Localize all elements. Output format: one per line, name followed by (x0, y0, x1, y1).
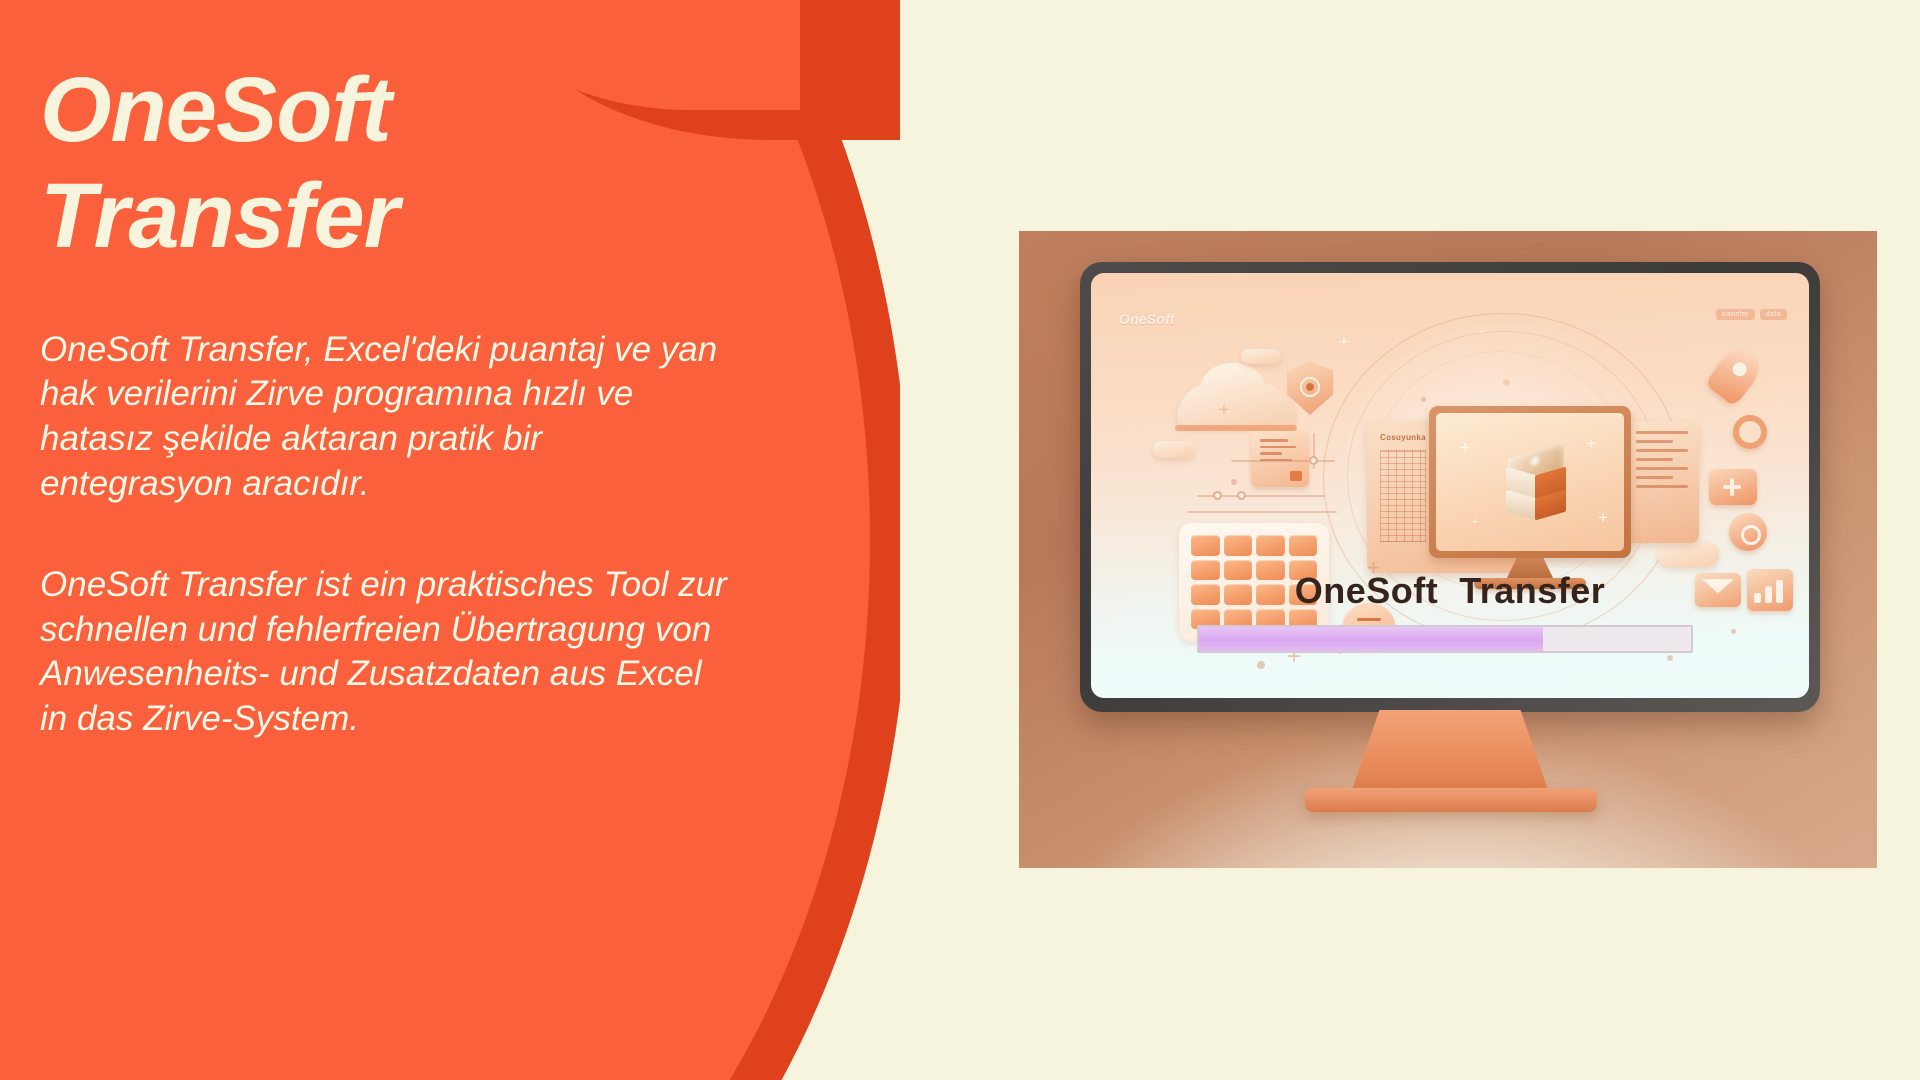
sparkle-icon: ⌄ (1477, 323, 1487, 335)
sparkle-icon: + (1472, 517, 1478, 528)
monitor-graphic: OneSoft transfer data (1080, 262, 1820, 712)
product-illustration: OneSoft transfer data (1019, 231, 1877, 868)
monitor-bezel: OneSoft transfer data (1080, 262, 1820, 712)
mini-grid (1380, 450, 1426, 542)
accent-dot (1257, 661, 1265, 669)
shield-lock-icon (1287, 361, 1333, 415)
sparkle-icon: + (1339, 333, 1349, 350)
slide-text-column: OneSoft Transfer OneSoft Transfer, Excel… (0, 0, 900, 1080)
sparkle-icon: + (1460, 439, 1470, 456)
paragraph-german: OneSoft Transfer ist ein praktisches Too… (40, 563, 890, 742)
cloud-small-icon (1657, 541, 1719, 567)
sparkle-icon: + (1598, 509, 1608, 526)
doc-line (1260, 446, 1296, 449)
connector-node (1309, 456, 1318, 465)
eye-icon (1729, 513, 1767, 551)
accent-dot (1421, 397, 1426, 402)
sub-monitor-frame: + + + + (1429, 406, 1631, 558)
connector-line (1231, 460, 1335, 462)
accent-dot (1231, 479, 1237, 485)
add-card-icon (1709, 469, 1757, 505)
paragraph-turkish: OneSoft Transfer, Excel'deki puantaj ve … (40, 328, 890, 507)
accent-dot (1667, 655, 1673, 661)
progress-bar-track (1197, 625, 1693, 653)
connector-node (1237, 491, 1246, 500)
cloud-small-icon (1241, 349, 1281, 364)
screen-watermark-logo: OneSoft (1119, 311, 1175, 327)
cloud-icon (1177, 383, 1295, 427)
monitor-stand-base (1305, 788, 1597, 812)
gear-icon (1733, 415, 1767, 449)
connector-line (1187, 511, 1337, 513)
sparkle-icon: + (1586, 435, 1596, 452)
shield-dot (1306, 383, 1314, 391)
monitor-stand-neck (1352, 710, 1548, 790)
screen-badge-1: data (1760, 309, 1787, 320)
rocket-icon (1704, 341, 1767, 407)
doc-line (1260, 452, 1282, 455)
screen-badge-group: transfer data (1716, 309, 1787, 320)
sub-monitor-icon: + + + + (1429, 406, 1631, 596)
monitor-screen: OneSoft transfer data (1091, 273, 1809, 698)
document-icon (1251, 431, 1309, 487)
accent-dot (1731, 629, 1736, 634)
doc-line (1260, 439, 1288, 442)
page-title: OneSoft Transfer (40, 58, 680, 270)
cloud-small-icon (1153, 441, 1195, 458)
sub-monitor-display: + + + + (1436, 413, 1624, 551)
doc-corner-mark (1290, 471, 1302, 481)
connector-node (1213, 491, 1222, 500)
progress-bar-fill (1199, 627, 1543, 651)
box-3d-icon (1502, 451, 1576, 525)
document-panel-icon (1625, 421, 1699, 543)
sparkle-icon: + (1219, 401, 1229, 418)
screen-product-title: OneSoft Transfer (1091, 570, 1809, 612)
accent-dot (1503, 379, 1510, 386)
screen-badge-0: transfer (1716, 309, 1755, 320)
